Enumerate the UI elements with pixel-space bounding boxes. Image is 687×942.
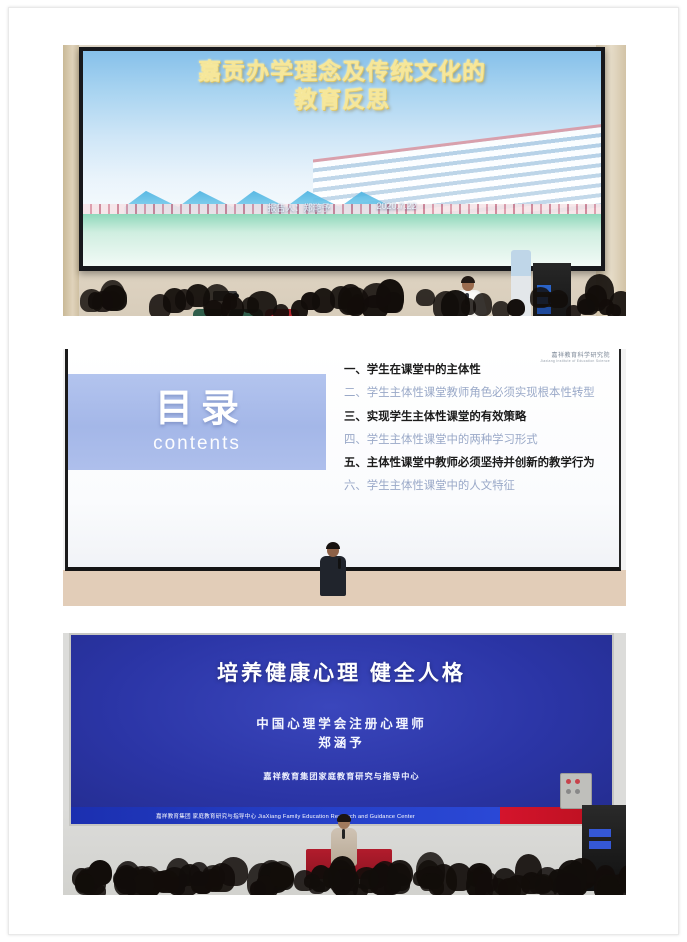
toc-item-2: 二、学生主体性课堂教师角色必须实现根本性转型: [344, 386, 611, 400]
toc-item-number: 六、: [344, 480, 367, 492]
toc-item-label: 主体性课堂中教师必须坚持并创新的教学行为: [367, 457, 595, 469]
toc-item-label: 学生在课堂中的主体性: [367, 364, 481, 376]
speaker-name: 郑涵予: [71, 732, 612, 751]
wall-pilaster-left: [63, 45, 79, 316]
speaker-hair: [326, 542, 340, 549]
psychology-title-slide: 培养健康心理 健全人格 中国心理学会注册心理师 郑涵予 嘉祥教育集团家庭教育研究…: [71, 635, 612, 824]
toc-item-label: 学生主体性课堂中的两种学习形式: [367, 434, 538, 446]
page-sheet: 嘉贡办学理念及传统文化的 教育反思 报告人：郑滟予 2020.7.22: [8, 7, 679, 935]
contents-slide: 嘉祥教育科学研究院 Jiaxiang Institute of Educatio…: [68, 349, 619, 567]
photo-psychology-lecture: 培养健康心理 健全人格 中国心理学会注册心理师 郑涵予 嘉祥教育集团家庭教育研究…: [63, 633, 626, 895]
audience-heads: [63, 282, 626, 316]
contents-heading-en: contents: [153, 433, 241, 455]
led-screen-display: 嘉贡办学理念及传统文化的 教育反思 报告人：郑滟予 2020.7.22: [83, 51, 601, 266]
banner-text: 嘉祥教育集团 家庭教育研究与指导中心 JiaXiang Family Educa…: [71, 807, 500, 824]
toc-item-number: 二、: [344, 387, 367, 399]
slide-date: 2020.7.22: [376, 201, 416, 214]
toc-item-4: 四、学生主体性课堂中的两种学习形式: [344, 433, 611, 447]
organization-label: 嘉祥教育集团家庭教育研究与指导中心: [71, 770, 612, 782]
toc-item-number: 四、: [344, 434, 367, 446]
toc-item-label: 学生主体性课堂教师角色必须实现根本性转型: [367, 387, 595, 399]
slide-subtitle-line: 报告人：郑滟予 2020.7.22: [83, 201, 601, 214]
slide-presenter-label: 报告人：郑滟予: [267, 201, 330, 214]
toc-item-number: 三、: [344, 411, 367, 423]
toc-item-1: 一、学生在课堂中的主体性: [344, 363, 611, 377]
speaker-torso: [320, 556, 346, 596]
led-screen-frame: 嘉贡办学理念及传统文化的 教育反思 报告人：郑滟予 2020.7.22: [79, 47, 605, 271]
audience-heads: [63, 825, 626, 895]
toc-item-number: 一、: [344, 364, 367, 376]
toc-item-number: 五、: [344, 457, 367, 469]
photo-lecture-hall-opening-keynote: 嘉贡办学理念及传统文化的 教育反思 报告人：郑滟予 2020.7.22: [63, 45, 626, 316]
slide-title: 培养健康心理 健全人格: [71, 657, 612, 687]
contents-heading-cn: 目录: [147, 390, 247, 428]
toc-item-label: 学生主体性课堂中的人文特征: [367, 480, 515, 492]
slide-title: 嘉贡办学理念及传统文化的 教育反思: [83, 57, 601, 113]
speaker-credential: 中国心理学会注册心理师: [71, 713, 612, 732]
audience-silhouettes: [63, 282, 626, 316]
projection-screen-frame: 培养健康心理 健全人格 中国心理学会注册心理师 郑涵予 嘉祥教育集团家庭教育研究…: [69, 633, 614, 826]
toc-item-label: 实现学生主体性课堂的有效策略: [367, 411, 526, 423]
table-of-contents-list: 一、学生在课堂中的主体性二、学生主体性课堂教师角色必须实现根本性转型三、实现学生…: [344, 363, 611, 494]
photo-contents-slide: 嘉祥教育科学研究院 Jiaxiang Institute of Educatio…: [63, 349, 626, 606]
institute-logo: 嘉祥教育科学研究院 Jiaxiang Institute of Educatio…: [540, 353, 610, 363]
toc-item-6: 六、学生主体性课堂中的人文特征: [344, 479, 611, 493]
contents-band: 目录 contents: [68, 374, 326, 470]
toc-item-3: 三、实现学生主体性课堂的有效策略: [344, 410, 611, 424]
contents-band-inner: 目录 contents: [68, 374, 326, 470]
wall-control-panel: [560, 773, 592, 809]
microphone-icon: [338, 558, 341, 569]
speaker-figure: [318, 542, 348, 597]
projection-screen-frame: 嘉祥教育科学研究院 Jiaxiang Institute of Educatio…: [65, 349, 621, 571]
audience-silhouettes: [63, 825, 626, 895]
toc-item-5: 五、主体性课堂中教师必须坚持并创新的教学行为: [344, 456, 611, 470]
speaker-hair: [337, 814, 351, 822]
